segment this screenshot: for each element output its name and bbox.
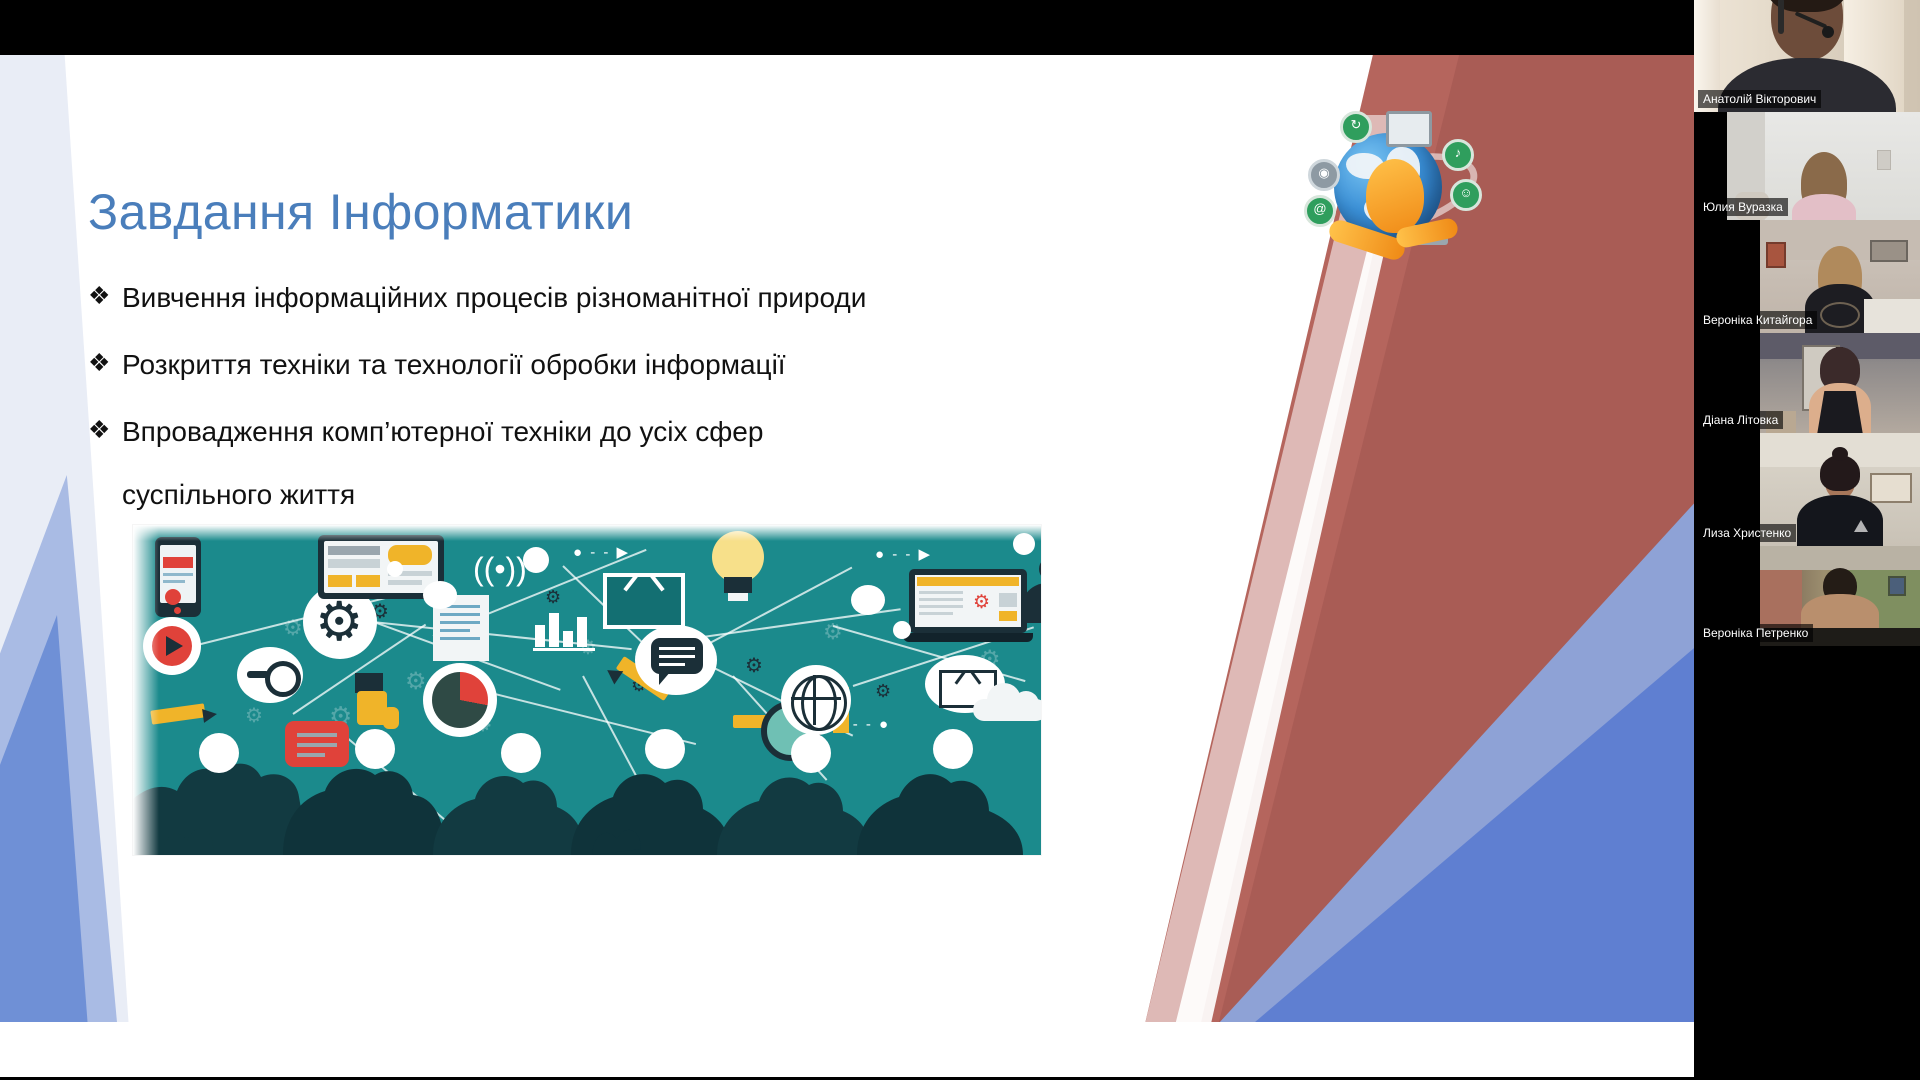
node-dot bbox=[387, 561, 403, 577]
slide-title: Завдання Інформатики bbox=[88, 183, 633, 241]
participant-tile[interactable]: Анатолій Вікторович bbox=[1694, 0, 1920, 112]
monitor-icon bbox=[1386, 111, 1432, 147]
participant-tile[interactable]: Вероніка Китайгора bbox=[1694, 220, 1920, 333]
lightbulb-icon bbox=[708, 531, 768, 611]
at-sign-icon: @ bbox=[1304, 195, 1336, 227]
user-tie-icon bbox=[1019, 557, 1041, 623]
bullet-marker-icon: ❖ bbox=[88, 347, 122, 380]
node-dot bbox=[893, 621, 911, 639]
participant-rail[interactable]: Анатолій Вікторович Юлия Вуразка bbox=[1694, 0, 1920, 1080]
participant-name: Юлия Вуразка bbox=[1698, 198, 1788, 216]
participant-name: Вероніка Китайгора bbox=[1698, 311, 1817, 329]
presentation-slide[interactable]: ◉ @ ↻ ♪ ☺ Завдання Інформатики ❖ Вивченн… bbox=[0, 55, 1694, 1022]
infographic-image[interactable]: ⚙ ⚙ ⚙ ⚙ ⚙ ⚙ ⚙ ⚙ ⚙ ⚙ ⚙ ⚙ ⚙ ◀ - - ● ● - - … bbox=[133, 525, 1041, 855]
shared-screen-area[interactable]: ◉ @ ↻ ♪ ☺ Завдання Інформатики ❖ Вивченн… bbox=[0, 55, 1694, 1077]
node-dot bbox=[523, 547, 549, 573]
headphones-icon: ♪ bbox=[1442, 139, 1474, 171]
bullet-marker-icon: ❖ bbox=[88, 280, 122, 313]
app-window: ◉ @ ↻ ♪ ☺ Завдання Інформатики ❖ Вивченн… bbox=[0, 0, 1920, 1080]
bullet-text: Розкриття техніки та технології обробки … bbox=[122, 347, 1088, 384]
smartphone-icon bbox=[155, 537, 201, 617]
globe-computer-logo: ◉ @ ↻ ♪ ☺ bbox=[1292, 103, 1492, 283]
participant-video bbox=[1760, 333, 1920, 433]
node-dot bbox=[423, 581, 457, 609]
satellite-dish-icon: ◉ bbox=[1308, 159, 1340, 191]
person-icon: ☺ bbox=[1450, 179, 1482, 211]
decor-left-blue-light bbox=[0, 475, 120, 1022]
node-dot bbox=[851, 585, 885, 615]
gear-icon: ⚙ bbox=[745, 653, 763, 678]
bar-chart-icon bbox=[533, 603, 595, 655]
gear-icon: ⚙ bbox=[875, 681, 891, 702]
participant-tile[interactable]: Вероніка Петренко bbox=[1694, 546, 1920, 646]
participant-name: Вероніка Петренко bbox=[1698, 624, 1813, 642]
slide-bullet-list: ❖ Вивчення інформаційних процесів різном… bbox=[88, 280, 1088, 544]
logo-mascot-body bbox=[1366, 159, 1424, 233]
dashed-arrow-icon: ● - - ▶ bbox=[573, 543, 630, 561]
participant-name: Анатолій Вікторович bbox=[1698, 90, 1821, 108]
decor-blue-wedge-bottom bbox=[1055, 575, 1694, 1022]
participant-tile[interactable]: Діана Літовка bbox=[1694, 333, 1920, 433]
wifi-icon: ((•)) bbox=[473, 553, 517, 597]
bullet-item: ❖ Впровадження комп’ютерної техніки до у… bbox=[88, 414, 1088, 514]
participant-name: Лиза Христенко bbox=[1698, 524, 1796, 542]
cloud-icon bbox=[973, 683, 1041, 723]
gear-icon: ⚙ bbox=[823, 619, 843, 645]
participant-name: Діана Літовка bbox=[1698, 411, 1783, 429]
bullet-text: Впровадження комп’ютерної техніки до усі… bbox=[122, 414, 1088, 451]
decor-blue-wedge-light bbox=[1080, 475, 1694, 1022]
bullet-text-continuation: суспільного життя bbox=[122, 477, 1088, 514]
decor-left-blue bbox=[0, 615, 90, 1022]
participant-tile[interactable]: Юлия Вуразка bbox=[1694, 112, 1920, 220]
bullet-item: ❖ Вивчення інформаційних процесів різном… bbox=[88, 280, 1088, 317]
refresh-icon: ↻ bbox=[1340, 111, 1372, 143]
participant-tile[interactable]: Лиза Христенко bbox=[1694, 433, 1920, 546]
bullet-text: Вивчення інформаційних процесів різноман… bbox=[122, 280, 1088, 317]
gear-icon: ⚙ bbox=[283, 615, 303, 641]
bullet-marker-icon: ❖ bbox=[88, 414, 122, 447]
bullet-item: ❖ Розкриття техніки та технології обробк… bbox=[88, 347, 1088, 384]
envelope-icon bbox=[603, 573, 685, 629]
magnifier-icon bbox=[237, 647, 303, 703]
speech-bubble-node-icon bbox=[635, 625, 717, 695]
laptop-icon: ⚙ bbox=[903, 569, 1033, 647]
dashed-arrow-icon: ● - - ▶ bbox=[875, 545, 932, 563]
audience-silhouettes bbox=[133, 725, 1041, 855]
